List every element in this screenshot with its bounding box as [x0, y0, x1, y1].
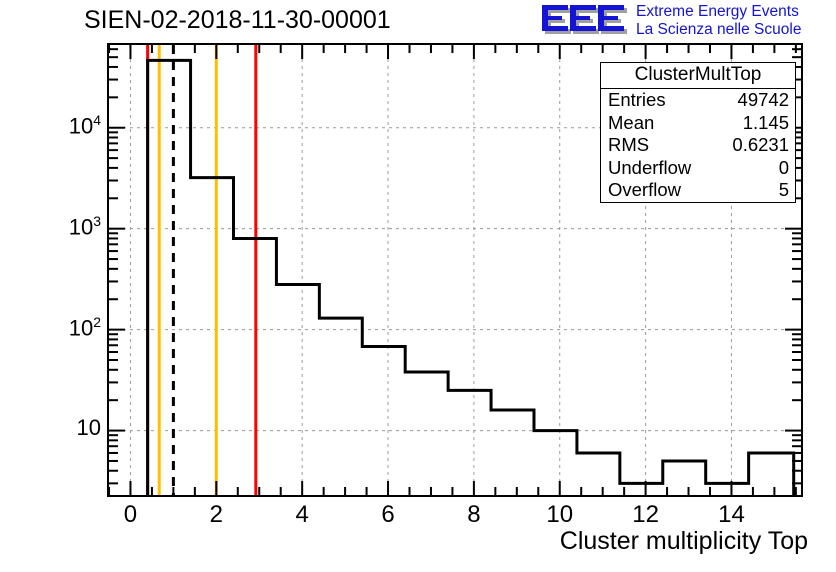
x-axis-tick-label: 8 [444, 501, 504, 529]
y-axis-tick-label: 10 [77, 415, 101, 441]
stats-row-label: RMS [608, 134, 649, 157]
x-axis-tick-label: 12 [616, 501, 676, 529]
x-axis-title: Cluster multiplicity Top [560, 527, 808, 556]
stats-row-label: Underflow [608, 157, 691, 180]
x-axis-tick-label: 6 [358, 501, 418, 529]
x-axis-tick-label: 2 [186, 501, 246, 529]
stats-row: RMS0.6231 [601, 134, 795, 157]
x-axis-tick-label: 4 [272, 501, 332, 529]
root-canvas: SIEN-02-2018-11-30-00001 [0, 0, 836, 572]
x-axis-tick-label: 14 [701, 501, 761, 529]
stats-row-value: 0.6231 [732, 134, 789, 157]
y-axis-tick-label: 104 [69, 112, 101, 139]
stats-row-value: 1.145 [743, 112, 789, 135]
stats-row-label: Overflow [608, 179, 681, 202]
stats-row-value: 0 [779, 157, 789, 180]
stats-row: Overflow5 [601, 179, 795, 202]
stats-row-value: 5 [779, 179, 789, 202]
stats-row-value: 49742 [738, 89, 789, 112]
stats-row: Underflow0 [601, 157, 795, 180]
stats-box-rows: Entries49742Mean1.145RMS0.6231Underflow0… [601, 89, 795, 202]
x-axis-tick-label: 10 [530, 501, 590, 529]
stats-box: ClusterMultTop Entries49742Mean1.145RMS0… [600, 62, 796, 203]
stats-row: Entries49742 [601, 89, 795, 112]
stats-row-label: Entries [608, 89, 666, 112]
y-axis-tick-label: 103 [69, 213, 101, 240]
stats-row-label: Mean [608, 112, 654, 135]
stats-row: Mean1.145 [601, 112, 795, 135]
x-axis-tick-label: 0 [100, 501, 160, 529]
marker-lines-layer [148, 45, 256, 495]
stats-box-title: ClusterMultTop [601, 63, 795, 89]
y-axis-tick-label: 102 [69, 314, 101, 341]
